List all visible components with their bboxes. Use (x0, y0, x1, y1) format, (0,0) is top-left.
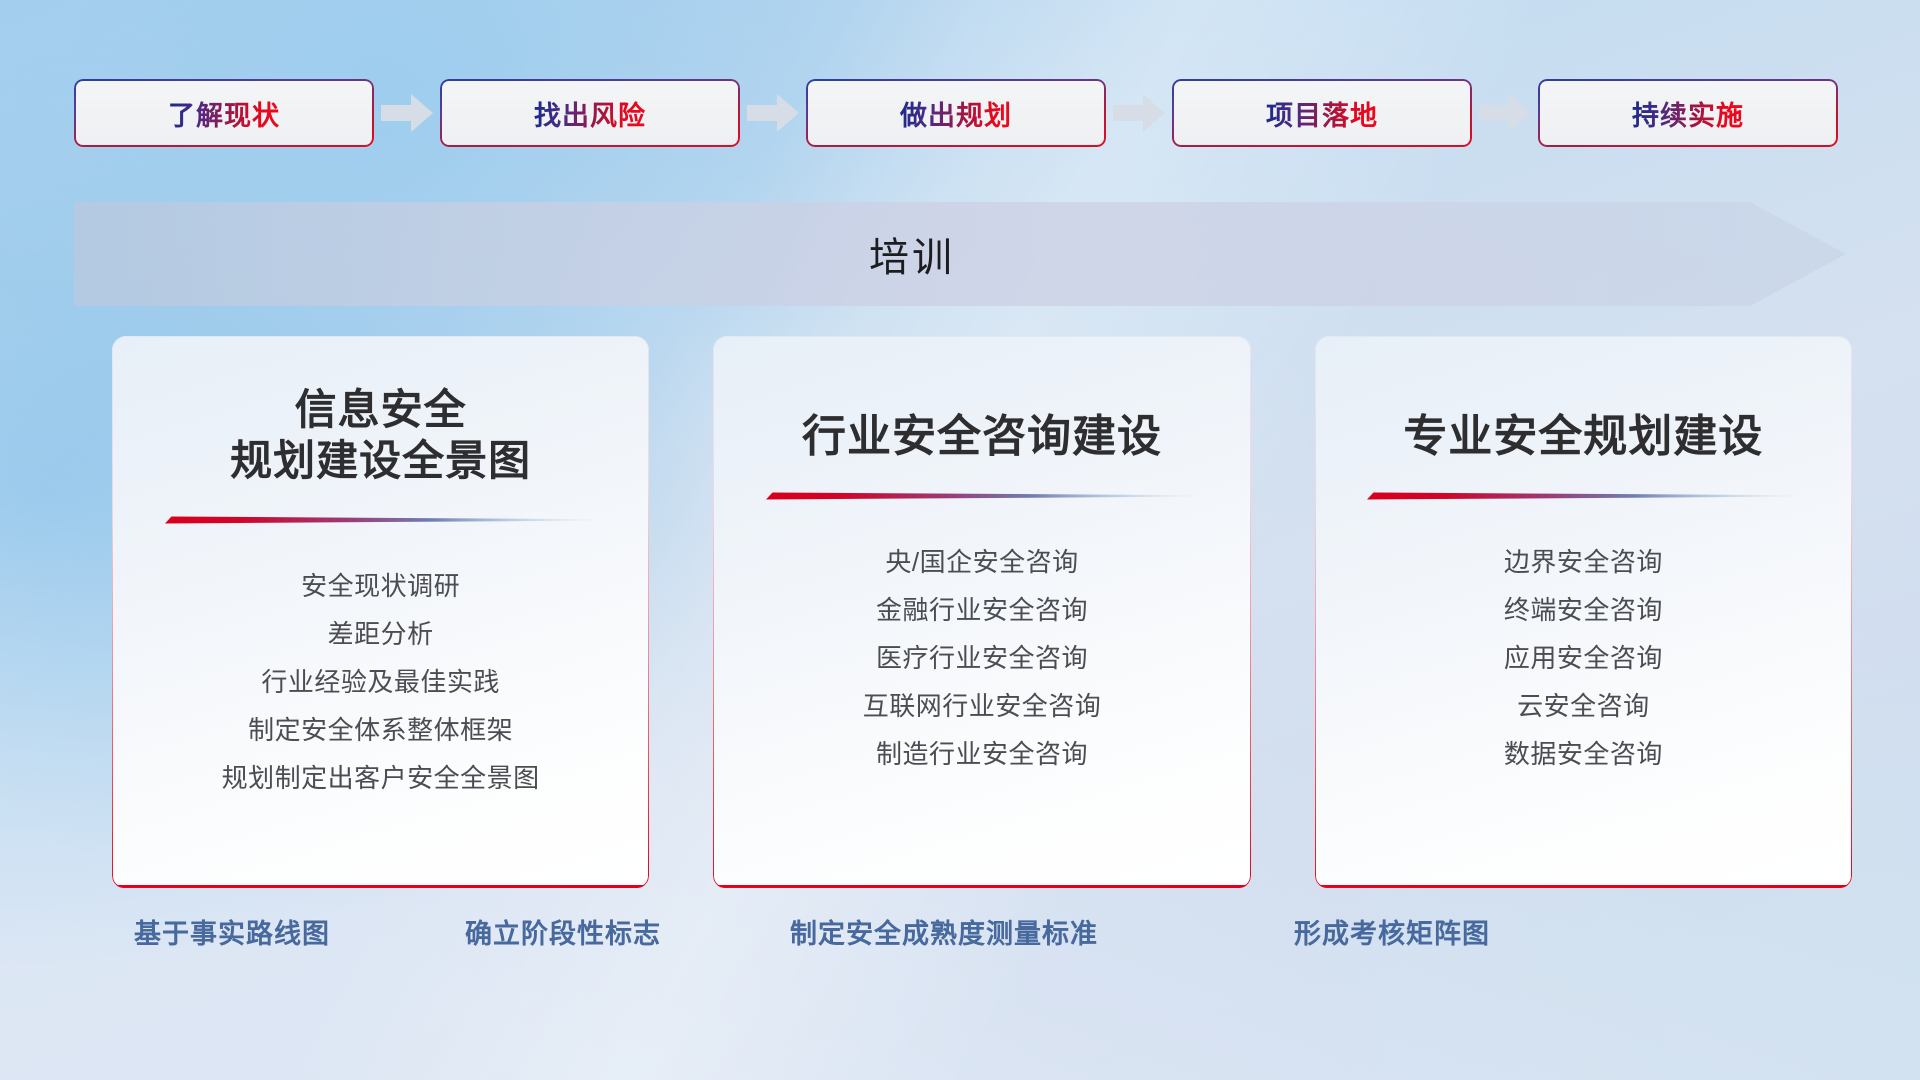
gradient-wedge-divider (1367, 488, 1799, 504)
footer-label-row: 基于事实路线图 确立阶段性标志 制定安全成熟度测量标准 形成考核矩阵图 (0, 912, 1920, 972)
list-item: 应用安全咨询 (1341, 634, 1826, 682)
process-step-row: 了解现状 找出风险 做出规划 项目落地 (74, 78, 1846, 148)
card-professional-security-planning[interactable]: 专业安全规划建设 (1315, 336, 1852, 888)
step-arrow-2 (740, 94, 806, 132)
training-banner: 培训 (74, 202, 1846, 306)
card-title-line: 信息安全 (230, 384, 531, 435)
card-list-3: 边界安全咨询 终端安全咨询 应用安全咨询 云安全咨询 数据安全咨询 (1341, 538, 1826, 778)
list-item: 行业经验及最佳实践 (138, 658, 623, 706)
step-label-2: 找出风险 (534, 94, 646, 133)
footer-label-4: 形成考核矩阵图 (1294, 912, 1490, 951)
step-chip-4[interactable]: 项目落地 (1172, 79, 1472, 147)
gradient-wedge-divider (766, 488, 1198, 504)
slide-stage: 了解现状 找出风险 做出规划 项目落地 (0, 0, 1920, 1080)
gradient-wedge-divider (165, 512, 597, 528)
card-info-security-blueprint[interactable]: 信息安全 规划建设全景图 (112, 336, 649, 888)
footer-label-3: 制定安全成熟度测量标准 (790, 912, 1098, 951)
step-chip-3[interactable]: 做出规划 (806, 79, 1106, 147)
card-divider-wrap-2 (739, 488, 1224, 504)
step-chip-2[interactable]: 找出风险 (440, 79, 740, 147)
step-label-1: 了解现状 (168, 94, 280, 133)
step-arrow-1 (374, 94, 440, 132)
list-item: 央/国企安全咨询 (739, 538, 1224, 586)
step-arrow-4 (1472, 94, 1538, 132)
footer-label-1: 基于事实路线图 (134, 912, 330, 951)
list-item: 规划制定出客户安全全景图 (138, 754, 623, 802)
list-item: 云安全咨询 (1341, 682, 1826, 730)
card-title-line: 专业安全规划建设 (1403, 410, 1763, 464)
card-title-3: 专业安全规划建设 (1403, 410, 1763, 464)
card-title-2: 行业安全咨询建设 (802, 410, 1162, 464)
list-item: 医疗行业安全咨询 (739, 634, 1224, 682)
step-arrow-3 (1106, 94, 1172, 132)
card-bottom-rule (713, 885, 1250, 888)
card-bottom-rule (1315, 885, 1852, 888)
list-item: 数据安全咨询 (1341, 730, 1826, 778)
card-title-1: 信息安全 规划建设全景图 (230, 384, 531, 486)
card-divider-wrap-1 (138, 512, 623, 528)
step-chip-1[interactable]: 了解现状 (74, 79, 374, 147)
list-item: 金融行业安全咨询 (739, 586, 1224, 634)
step-chip-5[interactable]: 持续实施 (1538, 79, 1838, 147)
list-item: 边界安全咨询 (1341, 538, 1826, 586)
card-title-line: 规划建设全景图 (230, 435, 531, 486)
card-industry-security-consulting[interactable]: 行业安全咨询建设 (713, 336, 1250, 888)
list-item: 差距分析 (138, 610, 623, 658)
card-list-1: 安全现状调研 差距分析 行业经验及最佳实践 制定安全体系整体框架 规划制定出客户… (138, 562, 623, 802)
footer-label-2: 确立阶段性标志 (465, 912, 661, 951)
list-item: 互联网行业安全咨询 (739, 682, 1224, 730)
step-label-3: 做出规划 (900, 94, 1012, 133)
step-label-4: 项目落地 (1266, 94, 1378, 133)
banner-label: 培训 (74, 202, 1750, 306)
card-title-line: 行业安全咨询建设 (802, 410, 1162, 464)
list-item: 终端安全咨询 (1341, 586, 1826, 634)
list-item: 制造行业安全咨询 (739, 730, 1224, 778)
card-bottom-rule (112, 885, 649, 888)
card-divider-wrap-3 (1341, 488, 1826, 504)
step-label-5: 持续实施 (1632, 94, 1744, 133)
list-item: 安全现状调研 (138, 562, 623, 610)
list-item: 制定安全体系整体框架 (138, 706, 623, 754)
card-list-2: 央/国企安全咨询 金融行业安全咨询 医疗行业安全咨询 互联网行业安全咨询 制造行… (739, 538, 1224, 778)
card-row: 信息安全 规划建设全景图 (112, 336, 1852, 888)
